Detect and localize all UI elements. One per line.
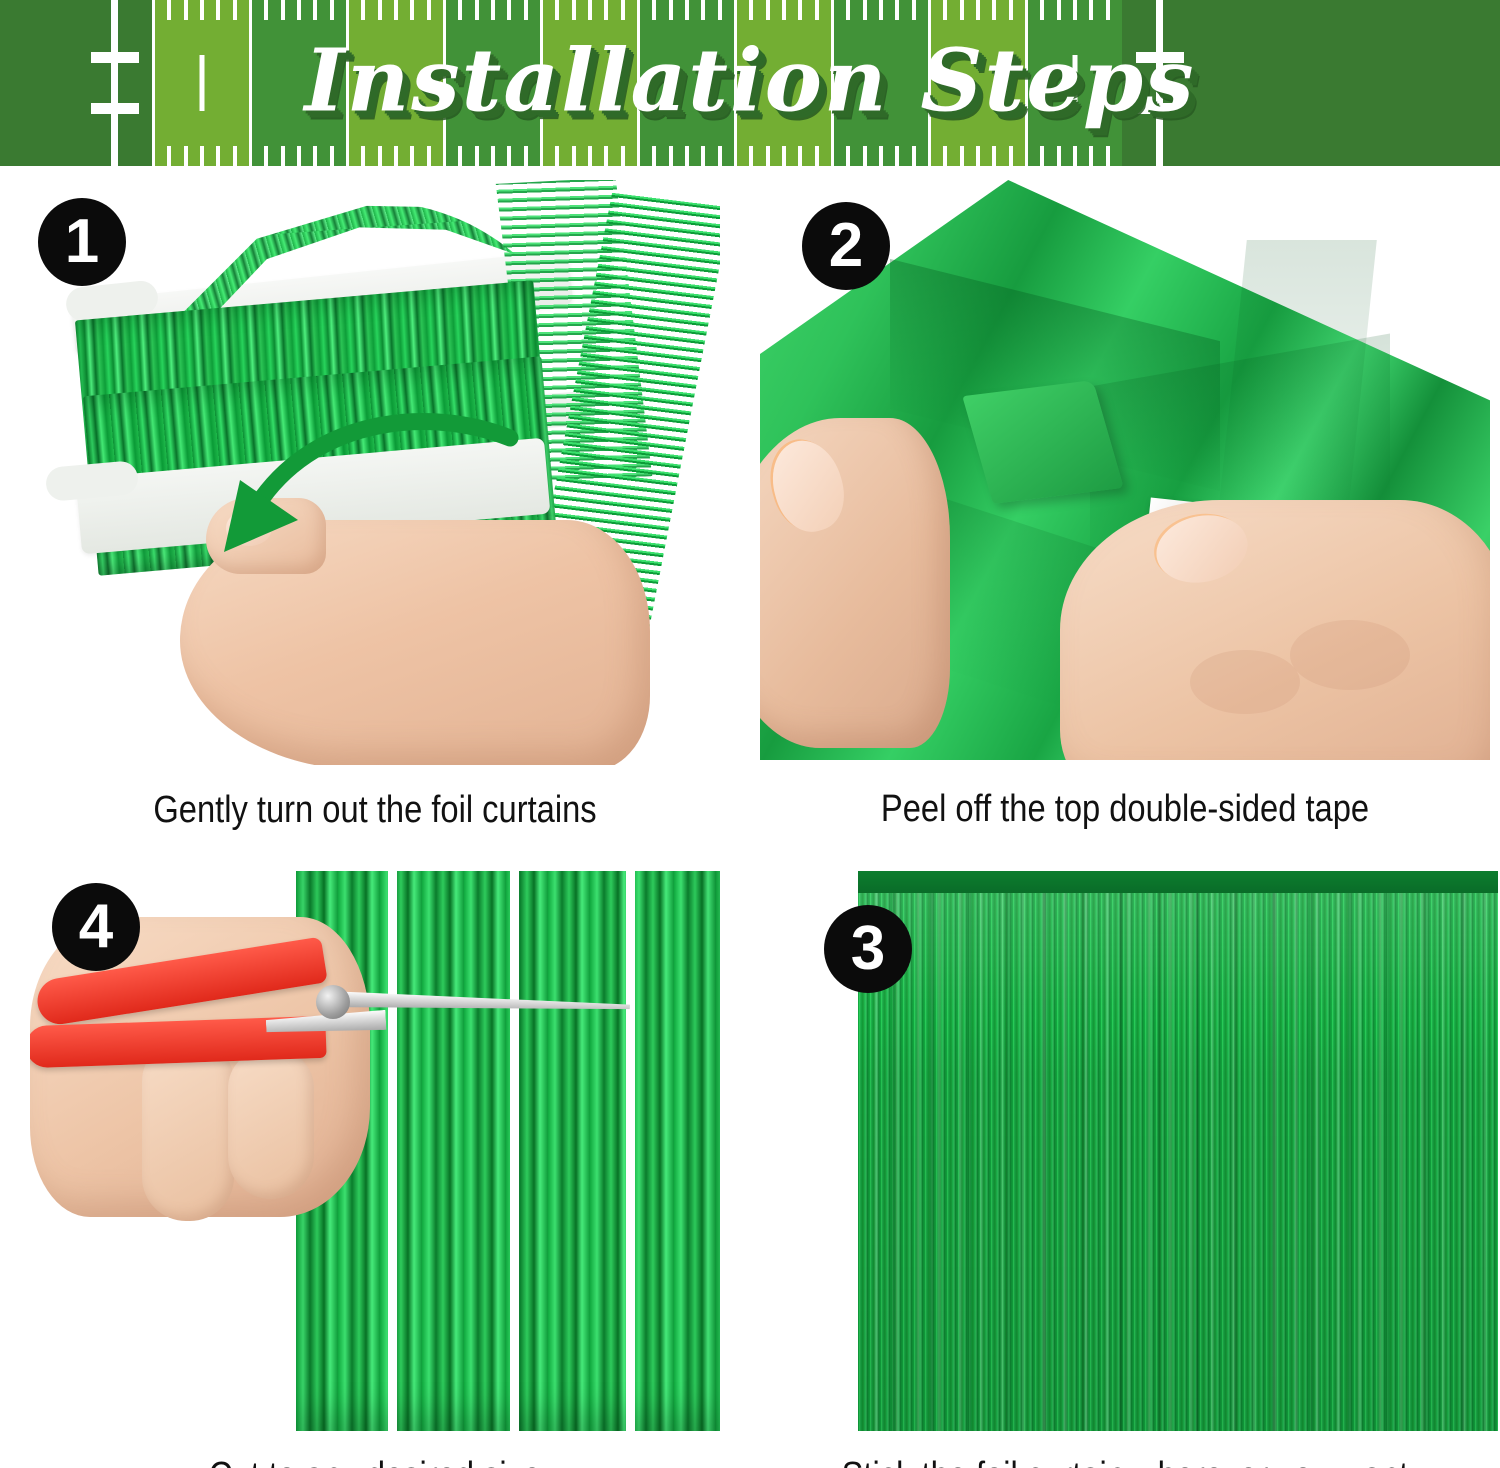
curtain-header-strip (858, 871, 1498, 895)
step-caption-2: Peel off the top double-sided tape (803, 790, 1448, 830)
step-number-2: 2 (829, 215, 863, 277)
step-3-image (858, 871, 1498, 1431)
step-card-1: 1 Gently turn out the foil curtains (0, 180, 750, 831)
scissors-pivot-screw (316, 985, 350, 1019)
step-number-badge-2: 2 (802, 202, 890, 290)
curved-arrow-icon (180, 402, 520, 602)
step-number-badge-1: 1 (38, 198, 126, 286)
steps-grid: 1 Gently turn out the foil curtains (0, 166, 1500, 1468)
step-caption-4: Cut to any desired size (53, 1457, 698, 1468)
tinsel-shimmer-overlay (858, 893, 1498, 1431)
installation-steps-infographic: Installation Steps (0, 0, 1500, 1468)
finger (142, 1041, 234, 1221)
step-card-2: 2 Peel off the top double-sided tape (750, 180, 1500, 831)
step-4-image: 4 (30, 871, 720, 1431)
fingernail (763, 432, 854, 539)
step-caption-1: Gently turn out the foil curtains (53, 791, 698, 831)
step-number-1: 1 (65, 211, 99, 273)
step-number-badge-3: 3 (824, 905, 912, 993)
finger (228, 1049, 314, 1199)
step-caption-3: Stick the foil curtain wherever you want (803, 1457, 1448, 1468)
step-card-4: 4 Cut to any desired size (0, 871, 750, 1468)
step-number-badge-4: 4 (52, 883, 140, 971)
step-1-image: 1 (30, 180, 720, 765)
header-banner: Installation Steps (0, 0, 1500, 166)
step-number-4: 4 (79, 896, 113, 958)
step-card-3: 3 Stick the foil curtain wherever you wa… (750, 871, 1500, 1468)
knuckle (1290, 620, 1410, 690)
steps-row-top: 1 Gently turn out the foil curtains (0, 180, 1500, 831)
fingernail (1150, 507, 1254, 591)
step-2-image: 2 (760, 180, 1490, 760)
right-hand-peeling-tape (1060, 500, 1490, 760)
steps-row-bottom: 4 Cut to any desired size 3 Stick the fo… (0, 871, 1500, 1468)
step-number-3: 3 (851, 918, 885, 980)
knuckle (1190, 650, 1300, 714)
page-title: Installation Steps (0, 30, 1500, 131)
left-hand-holding-sheet (760, 418, 950, 748)
